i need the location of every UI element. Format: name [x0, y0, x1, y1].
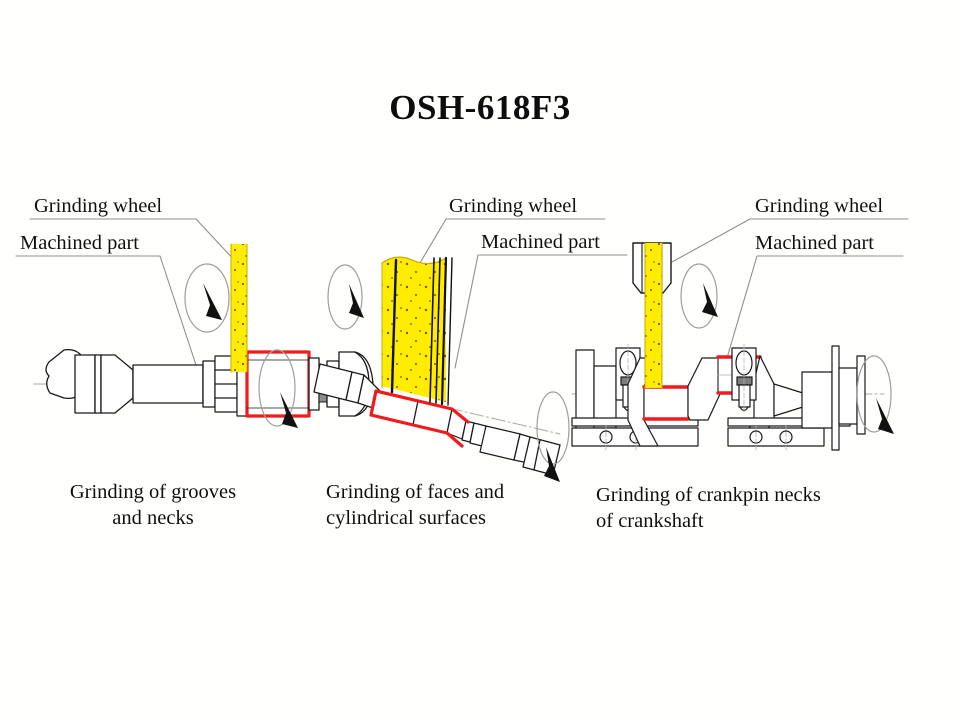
panel-3-wheel-rotation-arrow — [681, 264, 717, 328]
panel-3-flange-boss — [839, 368, 857, 424]
panel-3-grinding-wheel — [645, 243, 662, 388]
panel-1-barrel-step — [203, 361, 215, 407]
panel-3-flange-plate — [832, 346, 839, 450]
panel-3-part-arrowhead — [876, 398, 894, 434]
panel-3-crank-web-2 — [688, 358, 720, 420]
panel-1-wheel-rotation-arrow — [185, 264, 229, 332]
panel-1-left-collar — [75, 355, 95, 413]
panel-1-leaders — [16, 219, 236, 365]
panel-3-wheel-arrowhead — [702, 283, 718, 317]
panel-3-artwork — [572, 243, 894, 450]
panel-2-grinding-wheel — [382, 257, 452, 405]
panel-3-crankpin-left — [644, 386, 688, 420]
panel-1-grinding-wheel — [231, 244, 247, 372]
panel-3-right-foot — [728, 428, 824, 446]
panel-1-machined-neck — [237, 352, 309, 416]
panel-3-leaders — [672, 219, 908, 358]
panel-3-hub — [802, 372, 832, 428]
panel-2-shaft-e — [480, 426, 520, 460]
diagram-artwork — [0, 0, 960, 720]
panel-3-taper — [774, 384, 806, 416]
panel-3-flange-rim — [857, 356, 865, 434]
panel-1-wheel-arrowhead — [203, 283, 222, 320]
panel-1-left-cone — [101, 355, 133, 413]
panel-1-left-taper — [95, 355, 101, 413]
diagram-page: OSH-618F3 Grinding wheel Machined part G… — [0, 0, 960, 720]
panel-1-artwork — [34, 244, 373, 428]
panel-2-wheel-rotation-arrow — [328, 265, 362, 329]
panel-1-barrel — [133, 365, 203, 403]
